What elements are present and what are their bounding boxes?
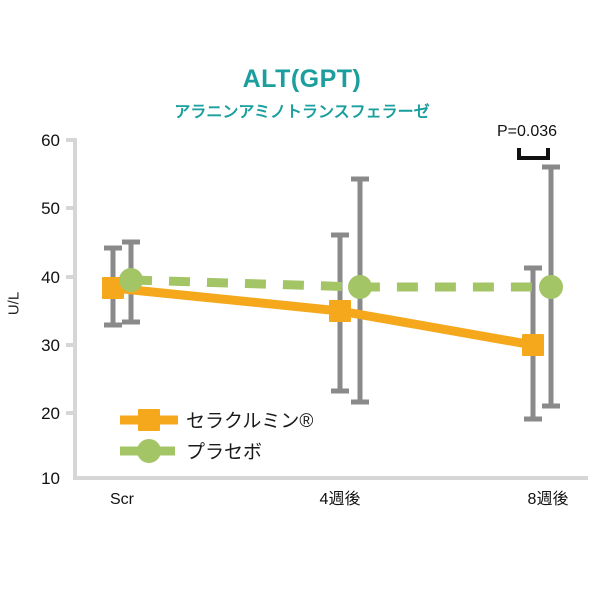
significance-bracket: [519, 148, 548, 158]
chart-plot-area: [0, 0, 604, 590]
legend-label-placebo: プラセボ: [186, 437, 262, 464]
chart-legend: セラクルミン® プラセボ: [118, 404, 348, 466]
series-line-serakurumin: [113, 288, 533, 345]
legend-swatch-circle-icon: [118, 438, 180, 464]
legend-swatch-square-icon: [118, 407, 180, 433]
chart-container: ALT(GPT) アラニンアミノトランスフェラーゼ U/L 60 50 40 3…: [0, 0, 604, 590]
legend-item-serakurumin: セラクルミン®: [118, 404, 348, 435]
legend-item-placebo: プラセボ: [118, 435, 348, 466]
legend-label-serakurumin: セラクルミン®: [186, 406, 313, 433]
error-bars-serakurumin: [104, 235, 542, 419]
